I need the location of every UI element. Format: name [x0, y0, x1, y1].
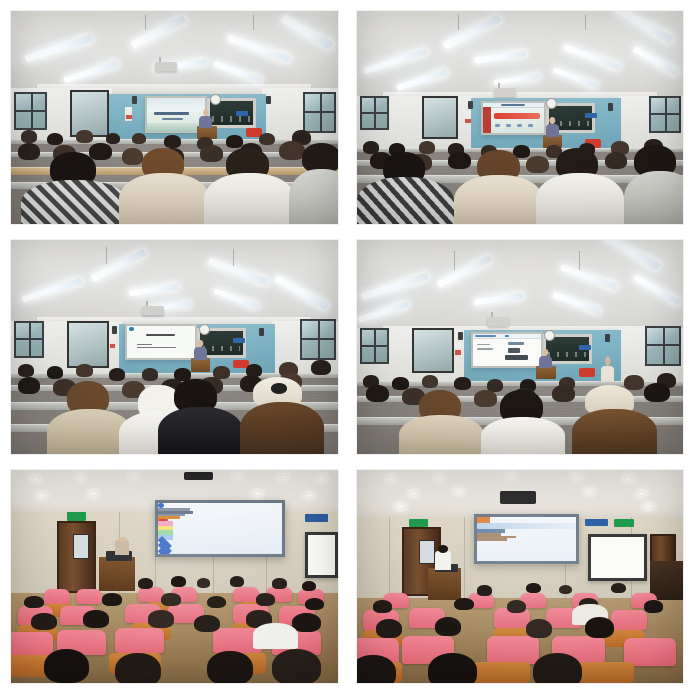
audience-head — [230, 576, 245, 587]
classroom-scene-4 — [357, 240, 684, 453]
ceiling-projector — [155, 62, 177, 71]
audience-head — [89, 143, 112, 160]
slide-logo — [505, 335, 509, 337]
projection-screen — [481, 101, 546, 135]
wall-poster — [464, 111, 471, 125]
ceiling-downlight — [233, 473, 242, 478]
auditorium-seat — [76, 589, 102, 604]
audience-shoulders-beige — [399, 415, 484, 453]
audience-head — [24, 596, 44, 609]
photo-panel-3[interactable]: Classroom view with text slide on screen… — [11, 240, 338, 453]
window — [300, 319, 336, 360]
auditorium-seat — [487, 636, 539, 664]
light-rod — [253, 15, 254, 30]
red-chair — [579, 368, 595, 377]
audience-head — [552, 385, 575, 402]
audience-head — [454, 598, 474, 611]
audience-head — [305, 598, 325, 611]
audience-head — [292, 613, 321, 632]
audience-head — [474, 390, 497, 407]
audience-head — [194, 615, 220, 632]
wall-speaker — [266, 96, 271, 104]
audience-head — [76, 364, 92, 377]
audience-head — [76, 130, 92, 143]
ceiling-projector — [184, 472, 213, 481]
audience-head — [477, 585, 492, 596]
audience-head — [605, 152, 628, 169]
audience-head — [526, 583, 541, 594]
audience-shoulders-beige — [119, 173, 210, 224]
slide-stat-label — [508, 342, 524, 344]
audience-head — [142, 368, 158, 381]
door-glass — [422, 96, 458, 139]
light-rod — [233, 249, 234, 266]
seat-cushion — [579, 662, 635, 683]
wall-panel-seam — [464, 517, 465, 611]
ceiling-downlight — [305, 493, 314, 498]
audience-shoulders-gray — [624, 171, 683, 224]
photo-panel-6[interactable]: Auditorium with speaker at lectern and b… — [357, 470, 684, 683]
exit-sign — [67, 512, 87, 521]
door-glass — [67, 321, 109, 368]
audience-head — [448, 152, 471, 169]
audience-head — [164, 135, 180, 148]
ceiling-downlight — [279, 474, 288, 479]
wall-speaker — [468, 101, 473, 109]
light-rod — [106, 247, 107, 264]
audience-head — [109, 368, 125, 381]
audience-shoulders-dark — [158, 407, 243, 454]
slide-body-line — [137, 344, 152, 345]
speaker-head — [438, 545, 448, 552]
audience-head — [422, 375, 438, 388]
audience-shoulders-gray — [289, 169, 338, 224]
ceiling-downlight — [396, 504, 405, 509]
slide-title-text — [146, 334, 174, 337]
projection-screen — [474, 514, 578, 563]
audience-head-foreground — [272, 649, 321, 683]
slide-title-text — [154, 112, 189, 116]
ceiling-downlight — [129, 473, 138, 478]
speaker-figure — [546, 124, 559, 137]
exit-sign — [409, 519, 429, 528]
ceiling-projector — [494, 88, 516, 97]
audience-head — [122, 148, 143, 165]
audience-head — [47, 133, 63, 146]
window — [14, 321, 43, 357]
slide-title-text — [475, 335, 495, 337]
door-window — [73, 534, 89, 560]
exit-sign — [614, 519, 634, 528]
slide-icon — [517, 124, 522, 128]
speaker-head — [118, 537, 126, 543]
audience-head — [197, 578, 210, 588]
speaker-figure — [199, 116, 212, 129]
audience-head — [200, 145, 223, 162]
slide-subtitle-text — [162, 118, 183, 120]
audience-head — [18, 377, 41, 394]
audience-head — [624, 375, 644, 390]
window — [645, 326, 681, 367]
audience-head — [644, 383, 670, 402]
wall-clock — [199, 324, 210, 335]
lectern — [536, 366, 556, 379]
window — [649, 96, 682, 132]
audience-head — [279, 141, 305, 160]
light-rod — [145, 15, 146, 30]
slide-icon — [495, 124, 500, 128]
audience-shoulders-white — [204, 173, 295, 224]
audience-head — [419, 141, 435, 154]
audience-shoulders-white — [536, 173, 624, 224]
light-rod — [454, 251, 455, 270]
auditorium-scene-2 — [357, 470, 684, 683]
ceiling-projector — [142, 306, 164, 315]
audience-shoulders-beige — [454, 175, 542, 224]
audience-head — [83, 610, 109, 627]
audience-head — [454, 377, 470, 390]
audience-head — [435, 617, 461, 636]
audience-head-foreground — [428, 653, 477, 683]
slide-title-text — [501, 104, 526, 106]
audience-head — [526, 156, 549, 173]
audience-shoulders-plaid — [357, 177, 455, 224]
classroom-scene-3 — [11, 240, 338, 453]
wall-speaker — [132, 96, 137, 104]
photo-panel-2[interactable]: Wide view of classroom with projected sl… — [357, 11, 684, 224]
window — [360, 96, 389, 130]
wall-sign — [233, 338, 245, 343]
slide-body-line — [137, 347, 176, 348]
speaker-figure — [435, 551, 451, 570]
auditorium-seat — [611, 610, 647, 629]
whiteboard — [588, 534, 647, 581]
wall-poster — [109, 336, 116, 350]
lectern — [428, 568, 461, 600]
audience-shoulders-white — [481, 417, 566, 453]
audience-head-foreground — [533, 653, 582, 683]
audience-head-foreground — [115, 653, 161, 683]
audience-head — [21, 130, 37, 143]
ceiling-downlight — [435, 474, 444, 479]
seat-cushion — [474, 662, 530, 683]
ceiling-downlight — [572, 474, 581, 479]
ceiling-downlight — [585, 489, 594, 494]
audience-head — [507, 600, 527, 613]
audience-head — [644, 600, 664, 613]
classroom-scene-2 — [357, 11, 684, 224]
auditorium-seat — [44, 589, 70, 604]
audience-head-foreground — [207, 651, 253, 683]
wall-speaker — [458, 332, 463, 340]
audience-head — [138, 578, 153, 589]
projection-screen — [471, 332, 543, 368]
cap-logo — [271, 383, 287, 394]
chalk-writing — [548, 352, 586, 357]
wall-sign — [236, 111, 248, 116]
wall-sign — [305, 514, 328, 521]
window — [303, 92, 336, 133]
slide-bullet-3 — [477, 538, 507, 541]
projection-screen — [125, 324, 197, 360]
slide-stat-number — [508, 348, 520, 353]
photo-collage: Lecture hall, view from rear over seated… — [0, 0, 693, 693]
photo-panel-4[interactable]: Classroom view with data slide on screen… — [357, 240, 684, 453]
projection-screen — [155, 500, 286, 558]
wall-speaker — [112, 326, 117, 334]
audience-head — [302, 581, 317, 592]
slide-body-line — [477, 344, 491, 346]
auditorium-seat — [11, 632, 53, 658]
audience-head — [373, 600, 393, 613]
ceiling-downlight — [409, 491, 418, 496]
audience-head — [18, 143, 41, 160]
wall-sign — [579, 345, 591, 350]
door-window — [419, 540, 435, 563]
light-rod — [458, 15, 459, 30]
photo-panel-1[interactable]: Lecture hall, view from rear over seated… — [11, 11, 338, 224]
slide-body-line — [477, 348, 493, 350]
audience-head — [259, 133, 275, 146]
audience-head — [18, 364, 34, 377]
photo-panel-5[interactable]: Auditorium with pink-and-wood fixed seat… — [11, 470, 338, 683]
slide-sidebar — [483, 107, 492, 133]
audience-shoulders-brown — [240, 402, 325, 453]
wall-poster — [454, 343, 461, 357]
slide-big-text — [505, 355, 528, 360]
auditorium-scene-1 — [11, 470, 338, 683]
audience-head — [102, 593, 122, 606]
audience-head — [559, 585, 572, 595]
ceiling-projector — [500, 491, 536, 504]
wall-poster — [125, 107, 132, 121]
ceiling-downlight — [386, 476, 395, 481]
classroom-scene-1 — [11, 11, 338, 224]
speaker-figure — [194, 347, 207, 360]
door-glass — [70, 90, 109, 137]
audience-head — [161, 593, 181, 606]
wall-speaker — [608, 103, 613, 111]
ceiling-downlight — [31, 476, 40, 481]
audience-head-foreground — [357, 655, 396, 683]
ceiling-downlight — [644, 504, 653, 509]
audience-head — [272, 578, 287, 589]
chalk-writing — [203, 346, 241, 351]
audience-head — [171, 576, 186, 587]
audience-head — [376, 619, 402, 638]
slide-sky-band — [147, 98, 205, 112]
slide-red-banner — [494, 113, 541, 120]
ceiling-downlight — [253, 491, 262, 496]
audience-head — [311, 360, 331, 375]
slide-logo — [129, 327, 134, 331]
audience-head — [207, 596, 227, 609]
audience-head — [31, 613, 57, 630]
chalk-writing — [212, 116, 250, 121]
ceiling-downlight — [507, 473, 516, 478]
door-glass — [412, 328, 454, 373]
window — [360, 328, 389, 364]
audience-head — [366, 385, 389, 402]
piano — [650, 561, 683, 599]
audience-head — [392, 377, 408, 390]
wall-sign — [585, 113, 597, 118]
wall-speaker — [605, 334, 610, 342]
whiteboard — [305, 532, 338, 579]
light-rod — [579, 251, 580, 270]
audience-head — [226, 135, 242, 148]
ceiling-projector — [487, 317, 509, 326]
audience-shoulders-white — [253, 623, 299, 649]
lectern — [99, 557, 135, 591]
audience-head — [106, 133, 121, 145]
audience-shoulders-brown — [572, 409, 657, 454]
auditorium-seat — [115, 628, 164, 654]
wall-speaker — [259, 328, 264, 336]
audience-head — [611, 583, 626, 594]
speaker-figure — [539, 356, 552, 369]
audience-head — [148, 610, 174, 627]
audience-shoulders-plaid — [21, 180, 129, 225]
audience-head — [47, 366, 63, 379]
ceiling-downlight — [318, 476, 327, 481]
audience-head — [585, 617, 614, 638]
audience-head — [526, 619, 552, 638]
audience-head — [256, 593, 276, 606]
audience-head-foreground — [44, 649, 90, 683]
window — [14, 92, 47, 130]
audience-head — [132, 133, 147, 145]
light-rod — [585, 15, 586, 30]
wall-sign — [585, 519, 608, 526]
slide-icon — [506, 124, 511, 128]
slide-icon — [528, 124, 533, 128]
